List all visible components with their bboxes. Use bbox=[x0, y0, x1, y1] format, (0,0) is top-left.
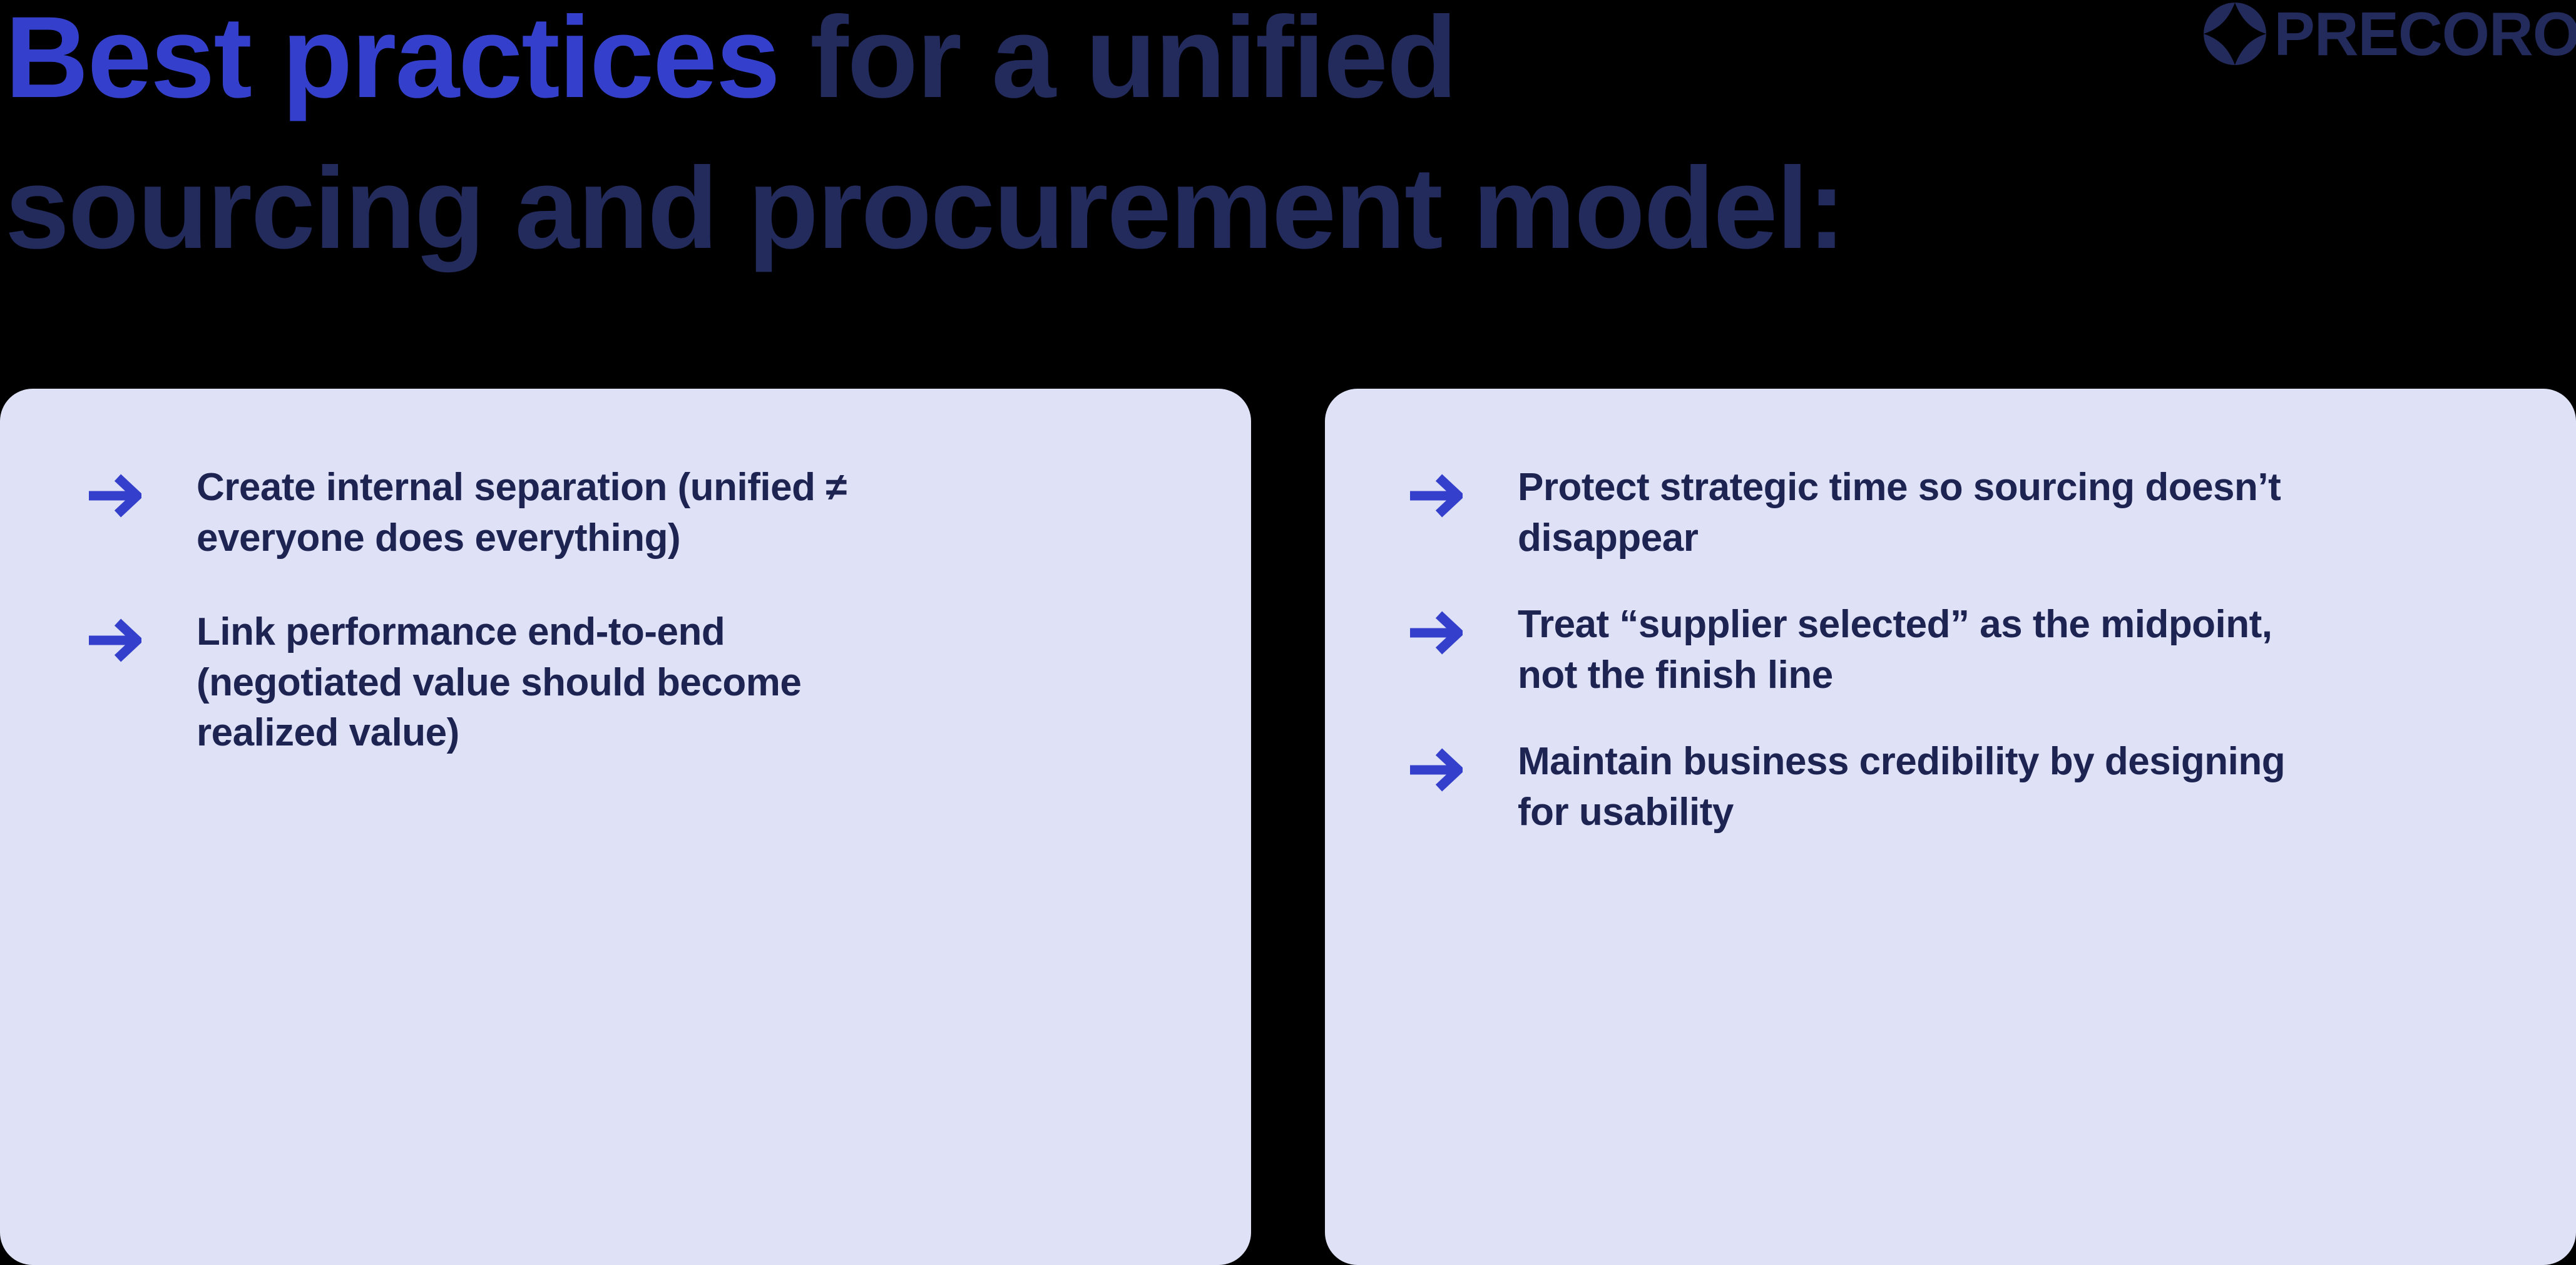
list-item: Create internal separation (unified ≠ ev… bbox=[88, 463, 1207, 563]
arrow-right-icon bbox=[1409, 463, 1518, 519]
precoro-circle-pinwheel-icon bbox=[2202, 1, 2267, 66]
list-item: Protect strategic time so sourcing doesn… bbox=[1409, 463, 2520, 563]
best-practices-card-right: Protect strategic time so sourcing doesn… bbox=[1325, 389, 2576, 1265]
page-title-accent: Best practices bbox=[5, 0, 779, 122]
best-practices-card-left: Create internal separation (unified ≠ ev… bbox=[0, 389, 1251, 1265]
page-title-line-2: sourcing and procurement model: bbox=[5, 133, 2008, 284]
list-item: Link performance end-to-end (negotiated … bbox=[88, 607, 1207, 759]
arrow-right-icon bbox=[88, 607, 197, 663]
list-item-label: Maintain business credibility by designi… bbox=[1518, 737, 2300, 837]
brand-name: PRECORO bbox=[2274, 3, 2576, 64]
list-item-label: Create internal separation (unified ≠ ev… bbox=[197, 463, 910, 563]
arrow-right-icon bbox=[1409, 600, 1518, 656]
list-item-label: Link performance end-to-end (negotiated … bbox=[197, 607, 910, 759]
brand-logo: PRECORO bbox=[2202, 1, 2576, 66]
arrow-right-icon bbox=[88, 463, 197, 519]
list-item: Treat “supplier selected” as the midpoin… bbox=[1409, 600, 2520, 700]
arrow-right-icon bbox=[1409, 737, 1518, 793]
slide-canvas: Best practices for a unified sourcing an… bbox=[0, 0, 2576, 1217]
page-title-line-1: Best practices for a unified bbox=[5, 0, 2008, 133]
page-title: Best practices for a unified sourcing an… bbox=[5, 0, 2008, 284]
page-title-line-1-rest: for a unified bbox=[779, 0, 1456, 122]
list-item-label: Protect strategic time so sourcing doesn… bbox=[1518, 463, 2300, 563]
list-item-label: Treat “supplier selected” as the midpoin… bbox=[1518, 600, 2300, 700]
list-item: Maintain business credibility by designi… bbox=[1409, 737, 2520, 837]
